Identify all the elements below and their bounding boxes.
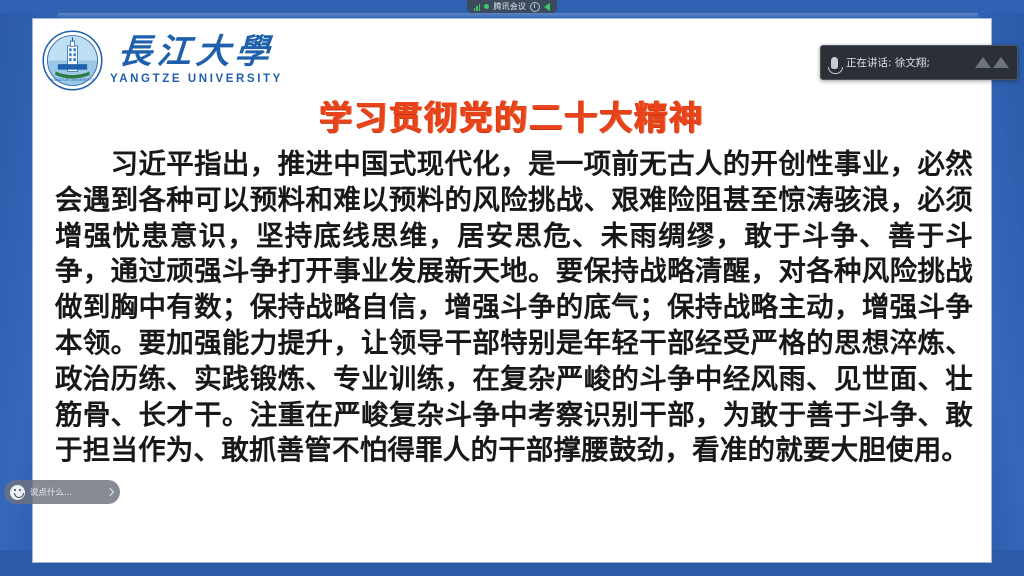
info-circle-icon[interactable] [530, 2, 540, 12]
shared-slide-stage: YANGTZE UNIVERSITY 長江大學 YANGTZE UNIVERSI… [0, 13, 1024, 576]
university-name-cn: 長江大學 [117, 35, 275, 69]
active-speaker-label: 正在讲话: 徐文翔; [846, 55, 967, 70]
svg-text:YANGTZE UNIVERSITY: YANGTZE UNIVERSITY [51, 77, 95, 82]
slide-template-frame: YANGTZE UNIVERSITY 長江大學 YANGTZE UNIVERSI… [0, 13, 1024, 576]
slide-title: 学习贯彻党的二十大精神 [33, 91, 991, 139]
meeting-screen-share-view: 腾讯会议 [0, 0, 1024, 576]
meeting-app-label: 腾讯会议 [493, 0, 526, 13]
signal-bars-icon [474, 3, 481, 11]
university-wordmark: 長江大學 YANGTZE UNIVERSITY [110, 35, 283, 86]
microphone-icon [831, 57, 838, 69]
slide-content-card: YANGTZE UNIVERSITY 長江大學 YANGTZE UNIVERSI… [33, 19, 991, 562]
emoji-smiley-icon[interactable] [10, 485, 25, 500]
chat-input-placeholder[interactable]: 说点什么... [30, 486, 102, 498]
green-status-dot [484, 4, 489, 9]
chevron-left-icon[interactable] [106, 488, 114, 496]
yangtze-university-seal-icon: YANGTZE UNIVERSITY [42, 30, 103, 91]
university-logo: YANGTZE UNIVERSITY 長江大學 YANGTZE UNIVERSI… [42, 30, 283, 91]
chat-composer-bar[interactable]: 说点什么... [4, 480, 120, 504]
meeting-status-pill[interactable]: 腾讯会议 [467, 0, 557, 13]
meeting-status-bar: 腾讯会议 [0, 0, 1024, 13]
active-speaker-chip[interactable]: 正在讲话: 徐文翔; [820, 45, 1018, 80]
slide-body-text: 习近平指出，推进中国式现代化，是一项前无古人的开创性事业，必然会遇到各种可以预料… [55, 147, 973, 469]
audio-wave-icon [975, 57, 1009, 68]
university-name-en: YANGTZE UNIVERSITY [110, 74, 283, 86]
speaker-icon[interactable] [544, 3, 550, 11]
